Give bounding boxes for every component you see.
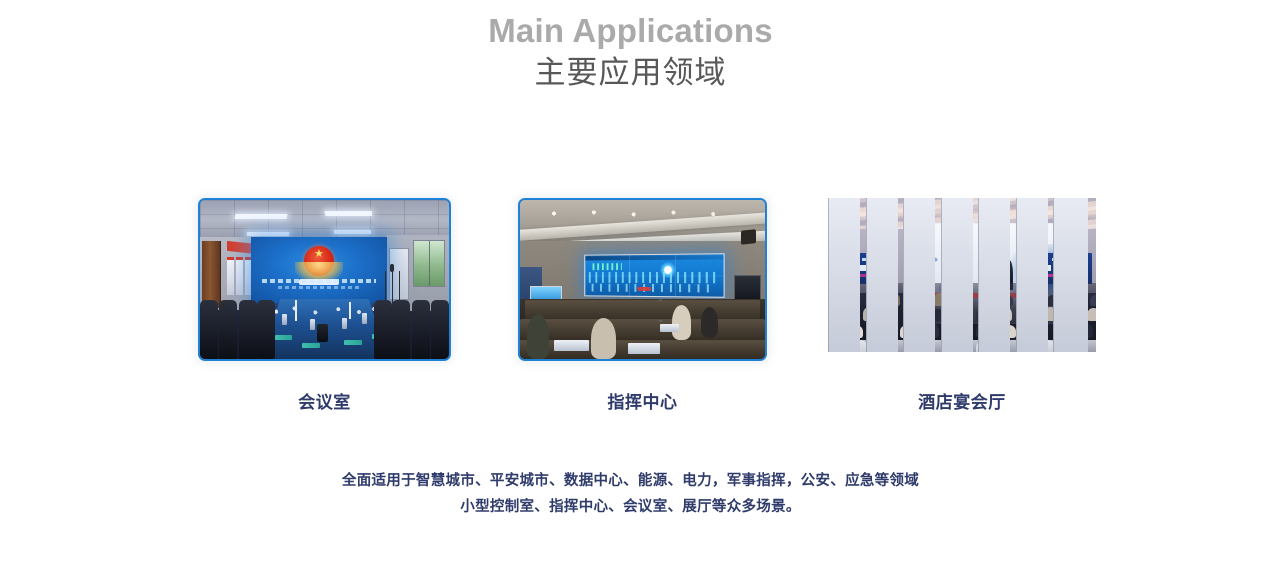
footnote-line-2: 小型控制室、指挥中心、会议室、展厅等众多场景。 [0,494,1261,520]
command-center-video-wall-photo [520,200,765,359]
conference-room-led-screen-photo: ★ [200,200,449,359]
caption-conference-room: 会议室 [198,388,451,413]
application-card-command-center[interactable] [518,198,767,361]
application-footnote: 全面适用于智慧城市、平安城市、数据中心、能源、电力，军事指挥，公安、应急等领域 … [0,468,1261,520]
hotel-banquet-hall-stage-photo [828,198,1096,352]
heading-english: Main Applications [0,10,1261,52]
footnote-line-1: 全面适用于智慧城市、平安城市、数据中心、能源、电力，军事指挥，公安、应急等领域 [0,468,1261,494]
application-cards-row: ★ [0,198,1261,368]
heading-chinese: 主要应用领域 [0,52,1261,94]
led-video-wall-command [584,253,725,297]
caption-command-center: 指挥中心 [518,388,767,413]
caption-banquet-hall: 酒店宴会厅 [828,388,1096,413]
application-card-banquet-hall[interactable] [828,198,1096,352]
application-card-conference-room[interactable]: ★ [198,198,451,361]
photo-frame-banquet-hall [828,198,1096,352]
photo-frame-conference-room: ★ [198,198,451,361]
national-emblem-icon: ★ [292,237,346,285]
page-heading: Main Applications 主要应用领域 [0,0,1261,94]
photo-frame-command-center [518,198,767,361]
card-captions-row: 会议室 指挥中心 酒店宴会厅 [0,388,1261,414]
